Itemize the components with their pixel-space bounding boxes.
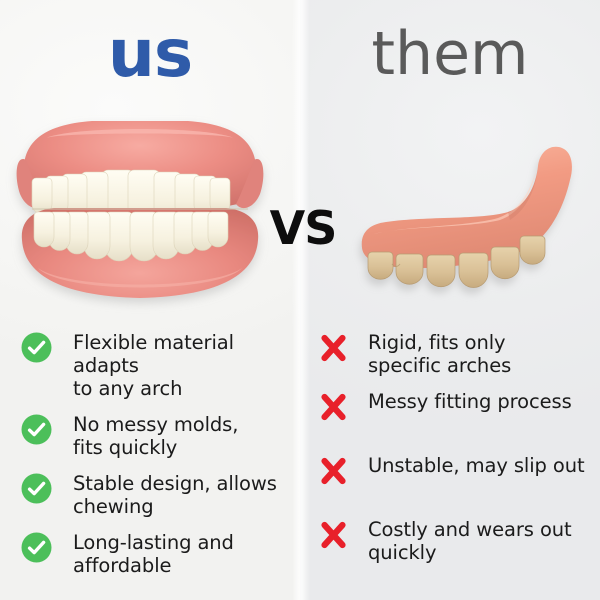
list-item: Unstable, may slip out — [314, 453, 600, 499]
list-item-label: Costly and wears out quickly — [354, 517, 600, 564]
list-item: Costly and wears out quickly — [314, 517, 600, 564]
list-item-label: Long-lasting and affordable — [56, 530, 300, 577]
list-item-label: Flexible material adapts to any arch — [56, 330, 300, 400]
x-mark-icon — [314, 390, 354, 426]
header-us: us — [0, 14, 300, 94]
list-item-label: Messy fitting process — [354, 389, 600, 413]
check-circle-icon — [16, 472, 56, 508]
list-item: Messy fitting process — [314, 389, 600, 435]
list-item-label: Rigid, fits only specific arches — [354, 330, 600, 377]
check-circle-icon — [16, 331, 56, 367]
list-item-label: Unstable, may slip out — [354, 453, 600, 477]
x-mark-icon — [314, 454, 354, 490]
list-item: Stable design, allows chewing — [16, 471, 300, 518]
header-them: them — [300, 14, 600, 94]
list-item-label: Stable design, allows chewing — [56, 471, 300, 518]
list-item: Flexible material adapts to any arch — [16, 330, 300, 400]
pros-list: Flexible material adapts to any arch No … — [16, 330, 300, 589]
x-mark-icon — [314, 518, 354, 554]
full-denture-set-image — [4, 108, 276, 318]
check-circle-icon — [16, 413, 56, 449]
list-item: Rigid, fits only specific arches — [314, 330, 600, 377]
list-item-label: No messy molds, fits quickly — [56, 412, 300, 459]
list-item: No messy molds, fits quickly — [16, 412, 300, 459]
list-item: Long-lasting and affordable — [16, 530, 300, 577]
x-mark-icon — [314, 331, 354, 367]
vs-badge: VS — [258, 200, 348, 256]
single-denture-arch-image — [340, 128, 590, 318]
comparison-infographic: us them — [0, 0, 600, 600]
check-circle-icon — [16, 531, 56, 567]
cons-list: Rigid, fits only specific arches Messy f… — [314, 330, 600, 576]
